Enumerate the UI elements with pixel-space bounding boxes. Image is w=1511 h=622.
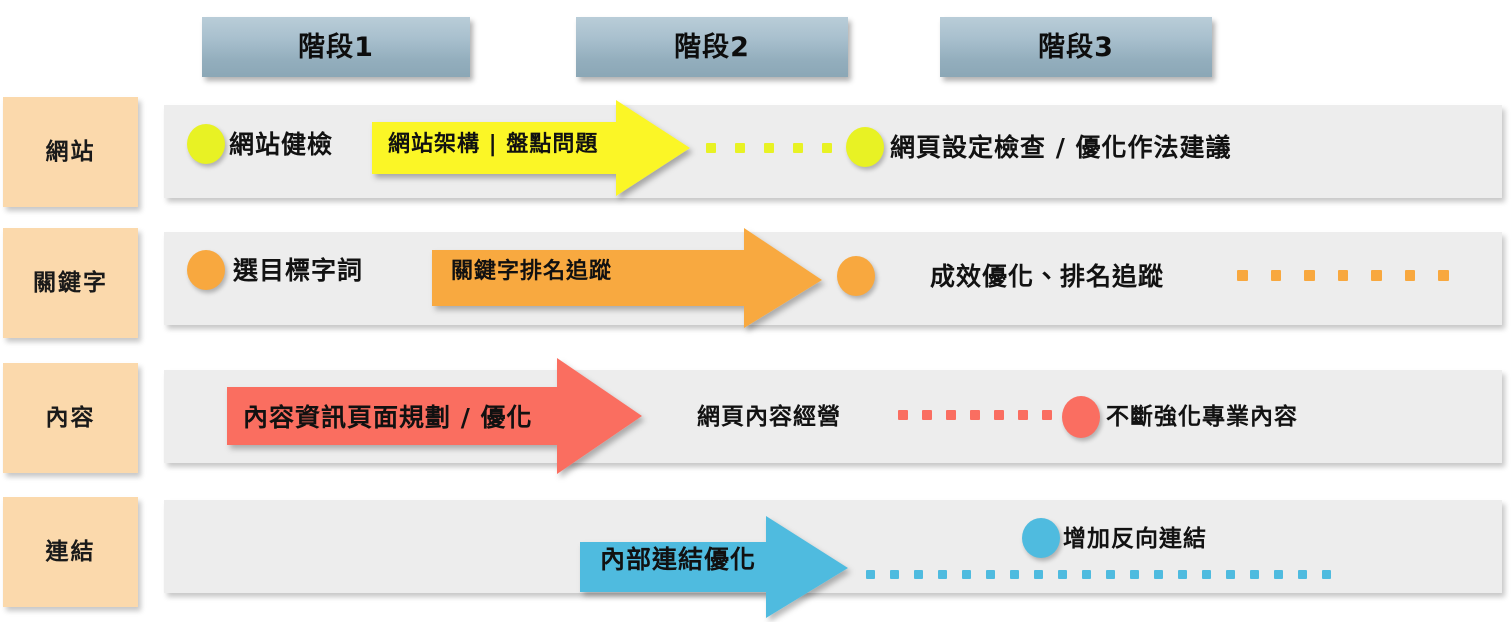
row-keyword-start-label: 選目標字詞 [233,251,363,289]
category-chip-keyword-label: 關鍵字 [33,272,108,295]
bullet-link-end [1022,518,1060,558]
stage-chip-2[interactable]: 階段2 [576,17,848,77]
row-website-end-label: 網頁設定檢查 / 優化作法建議 [890,128,1232,166]
category-chip-content[interactable]: 內容 [3,363,138,473]
category-chip-website[interactable]: 網站 [3,97,138,207]
row-content-end-label: 不斷強化專業內容 [1106,398,1298,436]
bullet-keyword-end [837,256,875,296]
category-chip-content-label: 內容 [46,407,96,430]
stage-chip-3-label: 階段3 [1038,34,1114,61]
row-website-start-label: 網站健檢 [229,125,333,163]
stage-chip-1-label: 階段1 [298,34,374,61]
stage-chip-3[interactable]: 階段3 [940,17,1212,77]
row-link-end-label: 增加反向連結 [1063,520,1207,558]
dots-content [898,409,1066,421]
arrow-website-label: 網站架構 | 盤點問題 [388,127,598,163]
bullet-content-end [1062,396,1100,438]
arrow-keyword-label: 關鍵字排名追蹤 [451,254,612,290]
arrow-content-label: 內容資訊頁面規劃 / 優化 [243,398,533,436]
stage-chip-2-label: 階段2 [674,34,750,61]
diagram-canvas: 階段1 階段2 階段3 網站 關鍵字 內容 連結 網站健檢 網站架構 | 盤點問… [0,0,1511,622]
bullet-website-start [187,124,225,164]
category-chip-link-label: 連結 [46,541,96,564]
bullet-keyword-start [187,250,225,290]
stage-chip-1[interactable]: 階段1 [202,17,470,77]
row-keyword-end-label: 成效優化、排名追蹤 [930,257,1164,295]
row-content-middle-label: 網頁內容經營 [697,398,841,436]
bullet-website-end [846,127,884,167]
arrow-link-label: 內部連結優化 [600,540,756,578]
dots-link [866,568,1336,580]
category-chip-keyword[interactable]: 關鍵字 [3,228,138,338]
dots-keyword [1237,269,1449,281]
dots-website [706,142,838,154]
category-chip-website-label: 網站 [46,141,96,164]
category-chip-link[interactable]: 連結 [3,497,138,607]
